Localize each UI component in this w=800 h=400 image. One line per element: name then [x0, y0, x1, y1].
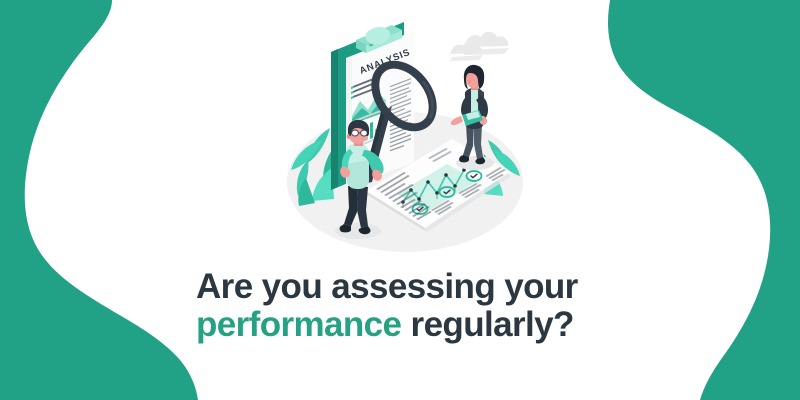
cloud-icon-large [464, 32, 509, 55]
headline-accent-word: performance [196, 305, 401, 344]
clipboard-board-edge [331, 49, 338, 190]
man-shirt-shade [347, 160, 369, 189]
promo-banner: ANALYSIS [0, 0, 800, 400]
clipboard-bullet-dots [351, 86, 353, 99]
headline: Are you assessing your performance regul… [196, 268, 666, 344]
headline-line-2: performance regularly? [196, 306, 666, 344]
headline-line-2-rest: regularly? [401, 305, 573, 344]
headline-line-1: Are you assessing your [196, 268, 666, 306]
